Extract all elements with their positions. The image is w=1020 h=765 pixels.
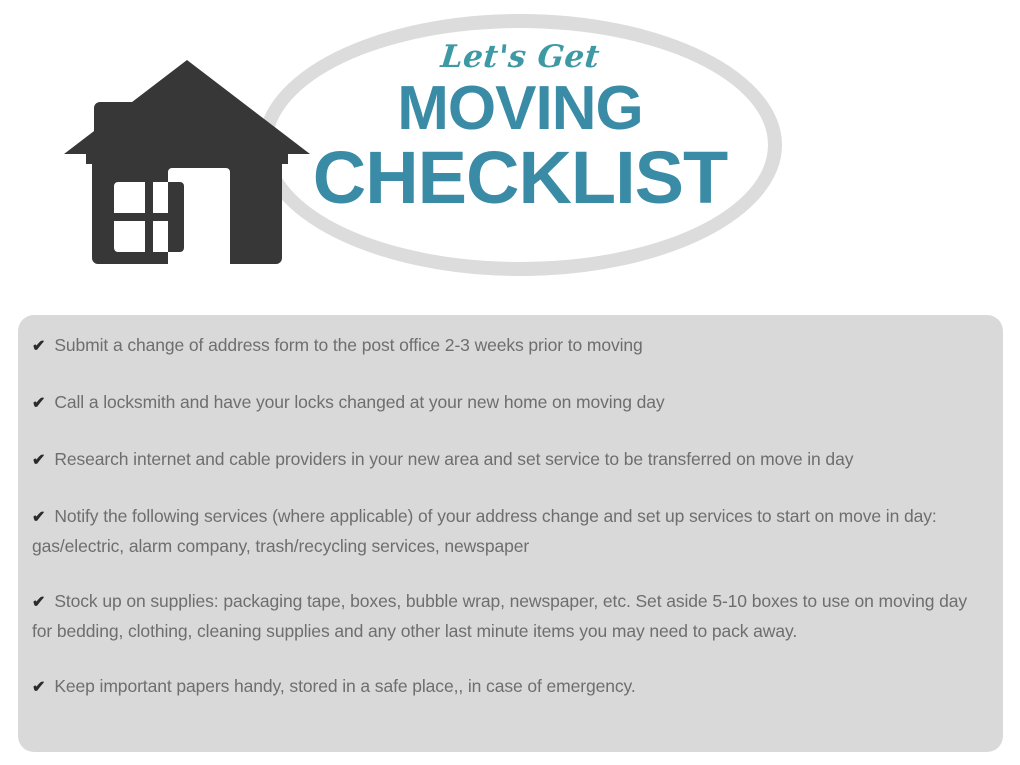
checkmark-icon: ✔ (32, 679, 45, 696)
checklist-item[interactable]: ✔Submit a change of address form to the … (32, 331, 989, 361)
checklist-item-label: Submit a change of address form to the p… (54, 335, 642, 355)
checklist-panel: ✔Submit a change of address form to the … (18, 315, 1003, 752)
checklist-item-label: Call a locksmith and have your locks cha… (54, 392, 664, 412)
checklist-item[interactable]: ✔Research internet and cable providers i… (32, 445, 989, 475)
checklist-item[interactable]: ✔Notify the following services (where ap… (32, 502, 989, 560)
checklist-item-label: Stock up on supplies: packaging tape, bo… (32, 591, 967, 641)
header-banner: Let's Get MOVING CHECKLIST (0, 0, 1020, 300)
checkmark-icon: ✔ (32, 338, 45, 355)
checkmark-icon: ✔ (32, 395, 45, 412)
house-icon (62, 58, 312, 270)
checklist-item[interactable]: ✔Call a locksmith and have your locks ch… (32, 388, 989, 418)
checklist-item-label: Notify the following services (where app… (32, 506, 937, 556)
checklist-item[interactable]: ✔Stock up on supplies: packaging tape, b… (32, 587, 989, 645)
checklist-items-container: ✔Submit a change of address form to the … (32, 331, 989, 702)
checkmark-icon: ✔ (32, 452, 45, 469)
checkmark-icon: ✔ (32, 594, 45, 611)
checklist-item-label: Keep important papers handy, stored in a… (54, 676, 635, 696)
title-ellipse-decoration (258, 14, 782, 276)
checkmark-icon: ✔ (32, 509, 45, 526)
checklist-item[interactable]: ✔Keep important papers handy, stored in … (32, 672, 989, 702)
checklist-item-label: Research internet and cable providers in… (54, 449, 853, 469)
